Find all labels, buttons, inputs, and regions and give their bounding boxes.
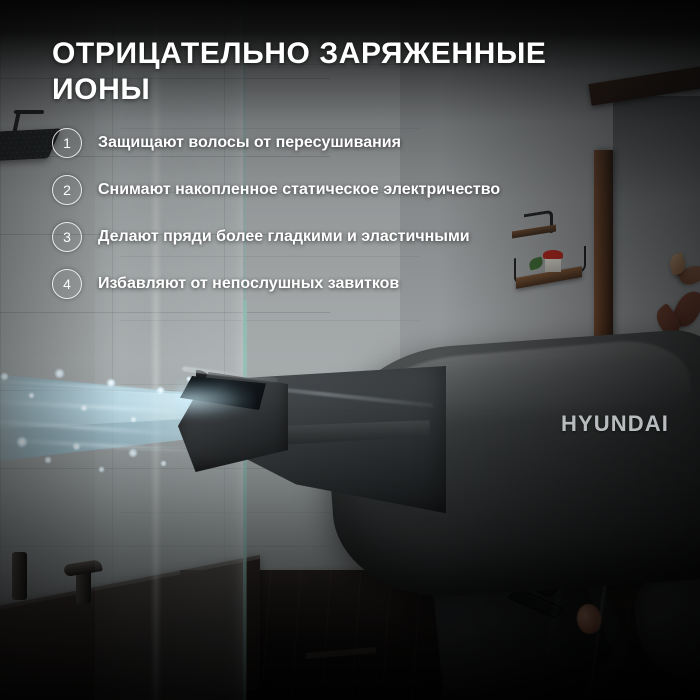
benefit-label: Снимают накопленное статическое электрич… [98,181,500,199]
benefit-label: Избавляют от непослушных завитков [98,275,399,293]
page-title: ОТРИЦАТЕЛЬНО ЗАРЯЖЕННЫЕ ИОНЫ [52,36,642,108]
brand-logo: HYUNDAI [561,411,669,437]
benefit-number-badge: 1 [52,128,82,158]
list-item: 4 Избавляют от непослушных завитков [52,269,500,299]
benefit-number-badge: 3 [52,222,82,252]
overlay-content: ОТРИЦАТЕЛЬНО ЗАРЯЖЕННЫЕ ИОНЫ 1 Защищают … [0,0,700,700]
product-feature-banner: ОТРИЦАТЕЛЬНО ЗАРЯЖЕННЫЕ ИОНЫ 1 Защищают … [0,0,700,700]
list-item: 1 Защищают волосы от пересушивания [52,128,500,158]
list-item: 3 Делают пряди более гладкими и эластичн… [52,222,500,252]
benefit-number-badge: 2 [52,175,82,205]
benefit-number-badge: 4 [52,269,82,299]
benefits-list: 1 Защищают волосы от пересушивания 2 Сни… [52,128,500,316]
list-item: 2 Снимают накопленное статическое электр… [52,175,500,205]
benefit-label: Защищают волосы от пересушивания [98,134,401,152]
benefit-label: Делают пряди более гладкими и эластичным… [98,228,470,246]
